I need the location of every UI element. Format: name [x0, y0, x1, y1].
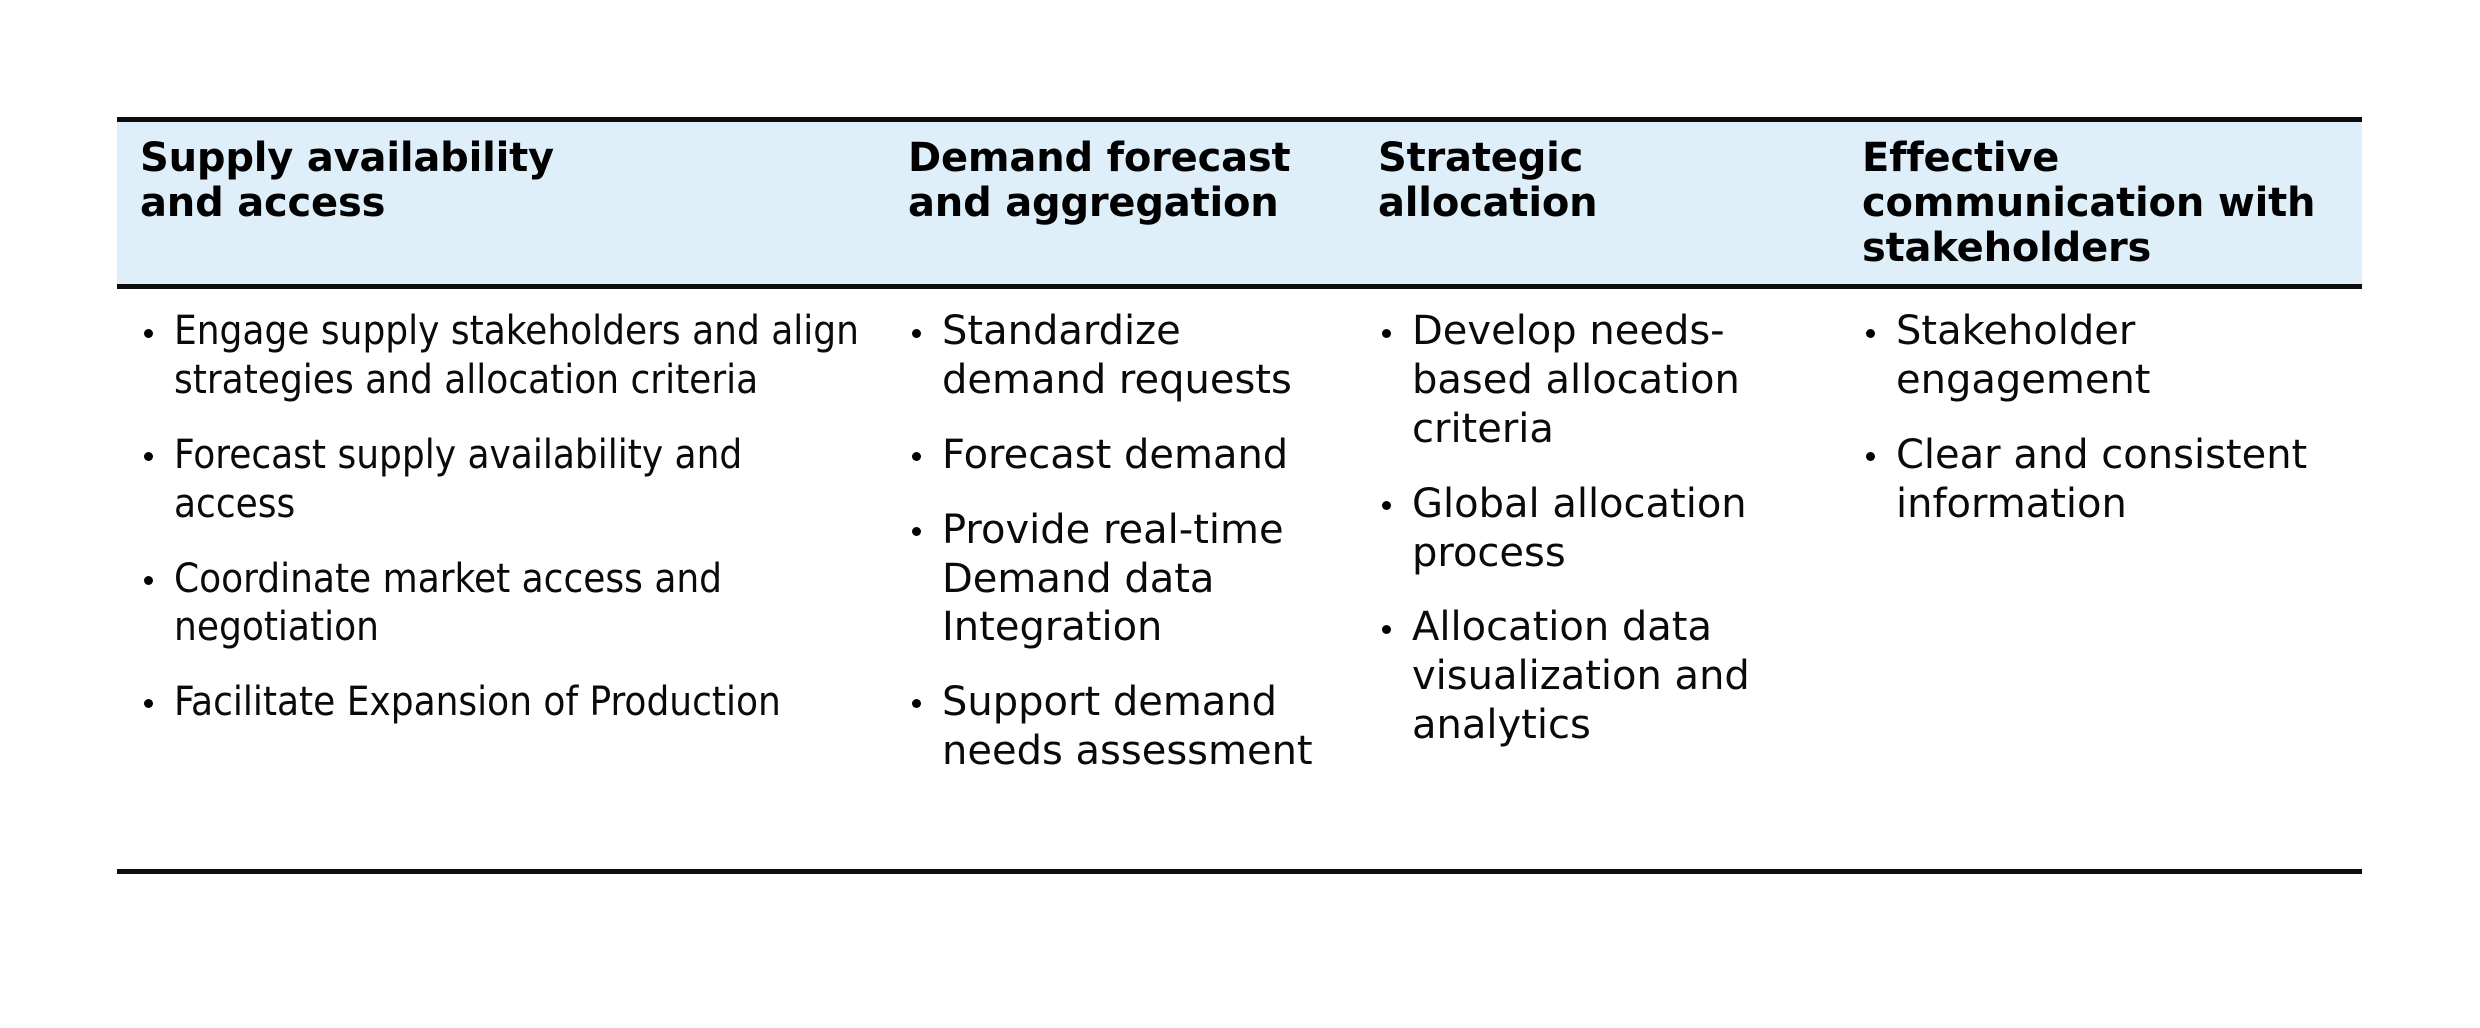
table-body-row: Engage supply stakeholders and align str…: [117, 289, 2362, 869]
table-header-row: Supply availability and access Demand fo…: [117, 122, 2362, 284]
column-title-effective-communication-with-stakeholders: Effective communication with stakeholder…: [1862, 136, 2336, 270]
bullet-list-demand-forecast-and-aggregation: Standardize demand requests Forecast dem…: [908, 307, 1329, 775]
bullet-dot-icon: [912, 527, 921, 536]
bullet-dot-icon: [144, 452, 153, 461]
column-body-cell-1: Engage supply stakeholders and align str…: [117, 307, 885, 847]
list-item-label: Stakeholder engagement: [1896, 308, 2150, 403]
column-body-cell-2: Standardize demand requests Forecast dem…: [885, 307, 1355, 847]
column-title-demand-forecast-and-aggregation: Demand forecast and aggregation: [908, 136, 1329, 226]
list-item: Engage supply stakeholders and align str…: [140, 307, 859, 405]
list-item: Support demand needs assessment: [908, 678, 1329, 776]
list-item-label: Global allocation process: [1412, 481, 1747, 576]
bullet-list-effective-communication-with-stakeholders: Stakeholder engagement Clear and consist…: [1862, 307, 2336, 528]
bullet-dot-icon: [1866, 452, 1875, 461]
column-header-cell-4: Effective communication with stakeholder…: [1837, 136, 2362, 270]
framework-table: Supply availability and access Demand fo…: [117, 117, 2362, 874]
list-item: Standardize demand requests: [908, 307, 1329, 405]
column-title-strategic-allocation: Strategic allocation: [1378, 136, 1811, 226]
list-item: Allocation data visualization and analyt…: [1378, 603, 1811, 749]
list-item-label: Develop needs-based allocation criteria: [1412, 308, 1740, 452]
list-item-label: Facilitate Expansion of Production: [174, 679, 781, 725]
bullet-dot-icon: [144, 576, 153, 585]
column-header-cell-3: Strategic allocation: [1355, 136, 1837, 270]
list-item: Coordinate market access and negotiation: [140, 555, 859, 653]
list-item-label: Clear and consistent information: [1896, 432, 2307, 527]
list-item: Forecast demand: [908, 431, 1329, 480]
bullet-dot-icon: [912, 329, 921, 338]
column-body-cell-4: Stakeholder engagement Clear and consist…: [1837, 307, 2362, 847]
list-item-label: Engage supply stakeholders and align str…: [174, 308, 859, 403]
list-item: Clear and consistent information: [1862, 431, 2336, 529]
list-item: Develop needs-based allocation criteria: [1378, 307, 1811, 453]
list-item-label: Allocation data visualization and analyt…: [1412, 604, 1750, 748]
bullet-list-strategic-allocation: Develop needs-based allocation criteria …: [1378, 307, 1811, 749]
list-item-label: Coordinate market access and negotiation: [174, 556, 722, 651]
list-item: Global allocation process: [1378, 480, 1811, 578]
bullet-dot-icon: [1382, 625, 1391, 634]
column-header-cell-1: Supply availability and access: [117, 136, 885, 270]
table-bottom-rule: [117, 869, 2362, 874]
bullet-dot-icon: [1382, 329, 1391, 338]
bullet-dot-icon: [144, 699, 153, 708]
list-item: Forecast supply availability and access: [140, 431, 859, 529]
list-item-label: Support demand needs assessment: [942, 679, 1313, 774]
list-item-label: Forecast demand: [942, 432, 1288, 478]
list-item-label: Standardize demand requests: [942, 308, 1292, 403]
bullet-dot-icon: [1382, 501, 1391, 510]
page: Supply availability and access Demand fo…: [0, 0, 2480, 1028]
bullet-dot-icon: [912, 452, 921, 461]
column-body-cell-3: Develop needs-based allocation criteria …: [1355, 307, 1837, 847]
bullet-dot-icon: [912, 699, 921, 708]
list-item: Stakeholder engagement: [1862, 307, 2336, 405]
list-item: Provide real-time Demand data Integratio…: [908, 506, 1329, 652]
list-item: Facilitate Expansion of Production: [140, 678, 859, 727]
bullet-dot-icon: [144, 329, 153, 338]
column-header-cell-2: Demand forecast and aggregation: [885, 136, 1355, 270]
list-item-label: Provide real-time Demand data Integratio…: [942, 507, 1284, 651]
bullet-dot-icon: [1866, 329, 1875, 338]
list-item-label: Forecast supply availability and access: [174, 432, 742, 527]
bullet-list-supply-availability-and-access: Engage supply stakeholders and align str…: [140, 307, 859, 727]
column-title-supply-availability-and-access: Supply availability and access: [140, 136, 859, 226]
